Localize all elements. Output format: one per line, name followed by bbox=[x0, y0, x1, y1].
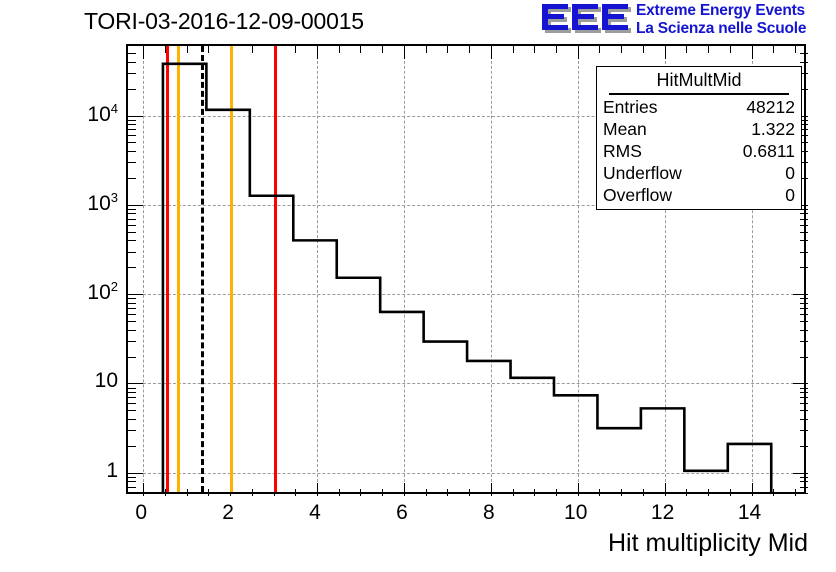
x-tick-label: 12 bbox=[651, 501, 674, 525]
stats-row-value: 1.322 bbox=[751, 118, 795, 140]
eee-logo: Extreme Energy Events La Scienza nelle S… bbox=[540, 2, 832, 40]
stats-row-value: 48212 bbox=[746, 96, 795, 118]
stats-row: Mean1.322 bbox=[603, 118, 795, 140]
eee-logo-line1: Extreme Energy Events bbox=[636, 2, 806, 20]
x-tick-label: 10 bbox=[564, 501, 587, 525]
x-tick-label: 2 bbox=[222, 501, 234, 525]
stats-row: Overflow0 bbox=[603, 184, 795, 206]
stats-row-key: RMS bbox=[603, 140, 650, 162]
eee-logo-line2: La Scienza nelle Scuole bbox=[636, 20, 806, 38]
stats-row-key: Mean bbox=[603, 118, 655, 140]
stats-box-rows: Entries48212Mean1.322RMS0.6811Underflow0… bbox=[603, 96, 795, 206]
stats-row-key: Underflow bbox=[603, 162, 690, 184]
x-tick-label: 6 bbox=[396, 501, 408, 525]
y-tick-label: 10 bbox=[50, 369, 118, 393]
stats-row-value: 0 bbox=[785, 184, 795, 206]
x-tick-label: 4 bbox=[309, 501, 321, 525]
stats-row: Underflow0 bbox=[603, 162, 795, 184]
stats-row-key: Overflow bbox=[603, 184, 680, 206]
stats-row: RMS0.6811 bbox=[603, 140, 795, 162]
y-tick-label: 103 bbox=[50, 190, 118, 216]
y-tick-label: 102 bbox=[50, 279, 118, 305]
stats-row-key: Entries bbox=[603, 96, 665, 118]
eee-logo-text: Extreme Energy Events La Scienza nelle S… bbox=[636, 2, 806, 38]
stats-row-value: 0.6811 bbox=[743, 140, 795, 162]
y-tick-label: 104 bbox=[50, 101, 118, 127]
x-tick-label: 0 bbox=[135, 501, 147, 525]
stats-row-value: 0 bbox=[785, 162, 795, 184]
stats-box: HitMultMid Entries48212Mean1.322RMS0.681… bbox=[596, 66, 802, 210]
stats-row: Entries48212 bbox=[603, 96, 795, 118]
page-title: TORI-03-2016-12-09-00015 bbox=[84, 8, 364, 35]
eee-logo-mark-icon bbox=[540, 3, 632, 37]
y-tick-label: 1 bbox=[50, 459, 118, 483]
x-axis-title: Hit multiplicity Mid bbox=[608, 529, 808, 558]
stats-box-title: HitMultMid bbox=[609, 69, 789, 95]
x-tick-label: 14 bbox=[738, 501, 761, 525]
x-tick-label: 8 bbox=[483, 501, 495, 525]
